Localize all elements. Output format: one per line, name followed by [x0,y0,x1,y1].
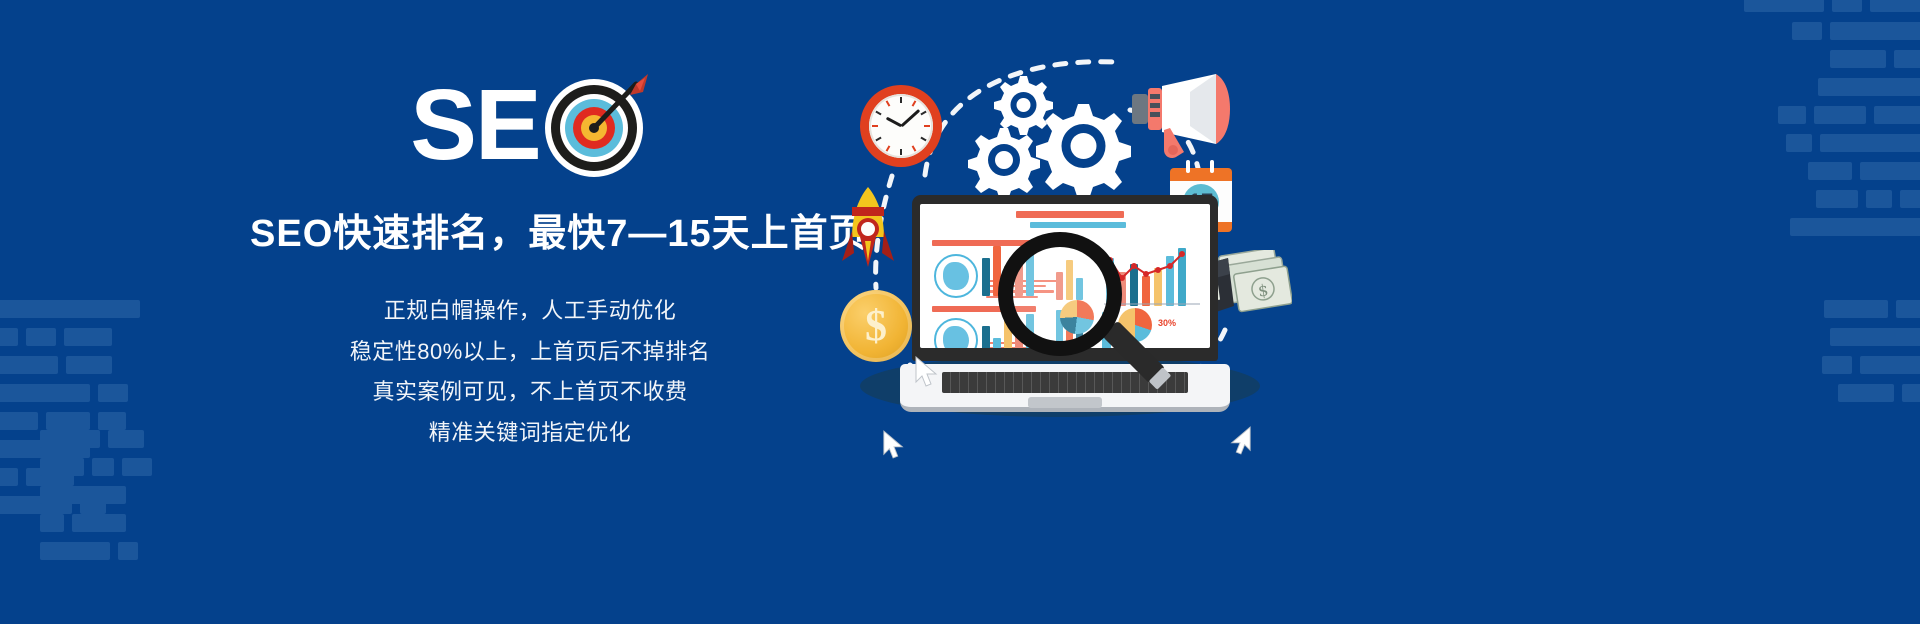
feature-item: 稳定性80%以上，上首页后不掉排名 [250,332,810,373]
seo-logo: SE [250,70,810,180]
megaphone-icon [1130,72,1230,158]
mouse-cursor-icon [1228,426,1252,461]
page-title: SEO快速排名，最快7—15天上首页 [250,202,810,257]
feature-list: 正规白帽操作，人工手动优化 稳定性80%以上，上首页后不掉排名 真实案例可见，不… [250,291,810,454]
gears-icon [960,70,1150,200]
seo-logo-text: SE [410,75,539,175]
decor-code-block-left-bottom [40,430,152,570]
mouse-cursor-icon [914,356,940,393]
seo-illustration: $ [830,0,1590,624]
promo-text-column: SE SEO快速排名，最快7—15天上首页 正规白帽操作，人工手动优化 [250,70,810,454]
target-bullseye-icon [544,72,650,178]
seo-promo-banner: SE SEO快速排名，最快7—15天上首页 正规白帽操作，人工手动优化 [0,0,1920,624]
screen-stat-label: 30% [1158,318,1176,328]
feature-item: 真实案例可见，不上首页不收费 [250,372,810,413]
magnifying-glass-icon [998,232,1148,382]
laptop-trackpad [1028,397,1102,408]
clock-icon [860,85,942,167]
rocket-icon [840,185,896,277]
decor-code-block-right-bottom [1700,300,1920,412]
feature-item: 正规白帽操作，人工手动优化 [250,291,810,332]
feature-item: 精准关键词指定优化 [250,413,810,454]
mouse-cursor-icon [882,430,906,465]
decor-code-block-right-top [1680,0,1920,246]
